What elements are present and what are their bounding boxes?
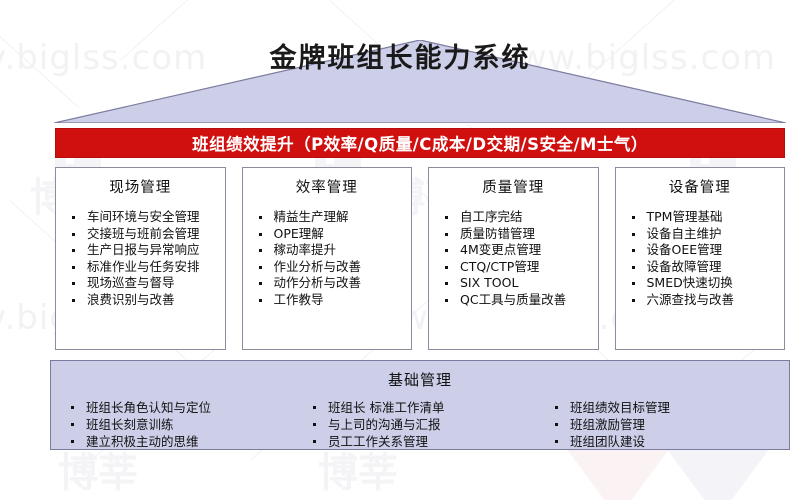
list-item: 4M变更点管理 <box>443 242 594 259</box>
list-item: 工作教导 <box>257 292 408 309</box>
pillar-item-list: 精益生产理解 OPE理解 稼动率提升 作业分析与改善 动作分析与改善 工作教导 <box>243 209 412 308</box>
performance-banner: 班组绩效提升（P效率/Q质量/C成本/D交期/S安全/M士气） <box>55 128 785 158</box>
list-item: 交接班与班前会管理 <box>70 226 221 243</box>
foundation-title: 基础管理 <box>51 361 789 390</box>
list-item: TPM管理基础 <box>630 209 781 226</box>
list-item: QC工具与质量改善 <box>443 292 594 309</box>
pillar-quality-management[interactable]: 质量管理 自工序完结 质量防错管理 4M变更点管理 CTQ/CTP管理 SIX … <box>428 167 599 350</box>
foundation-item-list: 班组绩效目标管理 班组激励管理 班组团队建设 <box>541 399 783 450</box>
list-item: 动作分析与改善 <box>257 275 408 292</box>
list-item: 建立积极主动的思维 <box>69 433 299 450</box>
foundation-column-3: 班组绩效目标管理 班组激励管理 班组团队建设 <box>541 399 783 450</box>
pillar-title: 设备管理 <box>616 176 785 197</box>
pillar-equipment-management[interactable]: 设备管理 TPM管理基础 设备自主维护 设备OEE管理 设备故障管理 SMED快… <box>615 167 786 350</box>
list-item: CTQ/CTP管理 <box>443 259 594 276</box>
list-item: 浪费识别与改善 <box>70 292 221 309</box>
list-item: 标准作业与任务安排 <box>70 259 221 276</box>
list-item: 作业分析与改善 <box>257 259 408 276</box>
list-item: SMED快速切换 <box>630 275 781 292</box>
list-item: 员工工作关系管理 <box>311 433 541 450</box>
list-item: 设备OEE管理 <box>630 242 781 259</box>
page-title: 金牌班组长能力系统 <box>0 36 800 75</box>
list-item: 车间环境与安全管理 <box>70 209 221 226</box>
pillar-item-list: 自工序完结 质量防错管理 4M变更点管理 CTQ/CTP管理 SIX TOOL … <box>429 209 598 308</box>
list-item: SIX TOOL <box>443 275 594 292</box>
list-item: 设备自主维护 <box>630 226 781 243</box>
pillar-item-list: 车间环境与安全管理 交接班与班前会管理 生产日报与异常响应 标准作业与任务安排 … <box>56 209 225 308</box>
list-item: 班组绩效目标管理 <box>553 399 783 416</box>
pillar-site-management[interactable]: 现场管理 车间环境与安全管理 交接班与班前会管理 生产日报与异常响应 标准作业与… <box>55 167 226 350</box>
list-item: 班组长 标准工作清单 <box>311 399 541 416</box>
list-item: 精益生产理解 <box>257 209 408 226</box>
list-item: 设备故障管理 <box>630 259 781 276</box>
list-item: 生产日报与异常响应 <box>70 242 221 259</box>
foundation-item-list: 班组长角色认知与定位 班组长刻意训练 建立积极主动的思维 <box>57 399 299 450</box>
foundation-columns: 班组长角色认知与定位 班组长刻意训练 建立积极主动的思维 班组长 标准工作清单 … <box>51 399 789 450</box>
pillar-title: 效率管理 <box>243 176 412 197</box>
list-item: 班组团队建设 <box>553 433 783 450</box>
pillar-title: 现场管理 <box>56 176 225 197</box>
slide-canvas: v.biglss.com www.biglss.com v.biglss.com… <box>0 0 800 500</box>
foundation-column-2: 班组长 标准工作清单 与上司的沟通与汇报 员工工作关系管理 <box>299 399 541 450</box>
foundation-column-1: 班组长角色认知与定位 班组长刻意训练 建立积极主动的思维 <box>57 399 299 450</box>
pillar-title: 质量管理 <box>429 176 598 197</box>
list-item: 班组长刻意训练 <box>69 416 299 433</box>
list-item: 稼动率提升 <box>257 242 408 259</box>
list-item: OPE理解 <box>257 226 408 243</box>
foundation-item-list: 班组长 标准工作清单 与上司的沟通与汇报 员工工作关系管理 <box>299 399 541 450</box>
foundation-panel[interactable]: 基础管理 班组长角色认知与定位 班组长刻意训练 建立积极主动的思维 班组长 标准… <box>50 360 790 450</box>
list-item: 自工序完结 <box>443 209 594 226</box>
list-item: 与上司的沟通与汇报 <box>311 416 541 433</box>
pillar-item-list: TPM管理基础 设备自主维护 设备OEE管理 设备故障管理 SMED快速切换 六… <box>616 209 785 308</box>
pillar-efficiency-management[interactable]: 效率管理 精益生产理解 OPE理解 稼动率提升 作业分析与改善 动作分析与改善 … <box>242 167 413 350</box>
list-item: 班组激励管理 <box>553 416 783 433</box>
list-item: 质量防错管理 <box>443 226 594 243</box>
performance-banner-text: 班组绩效提升（P效率/Q质量/C成本/D交期/S安全/M士气） <box>192 131 648 155</box>
list-item: 现场巡查与督导 <box>70 275 221 292</box>
list-item: 班组长角色认知与定位 <box>69 399 299 416</box>
list-item: 六源查找与改善 <box>630 292 781 309</box>
pillars-container: 现场管理 车间环境与安全管理 交接班与班前会管理 生产日报与异常响应 标准作业与… <box>55 167 785 350</box>
